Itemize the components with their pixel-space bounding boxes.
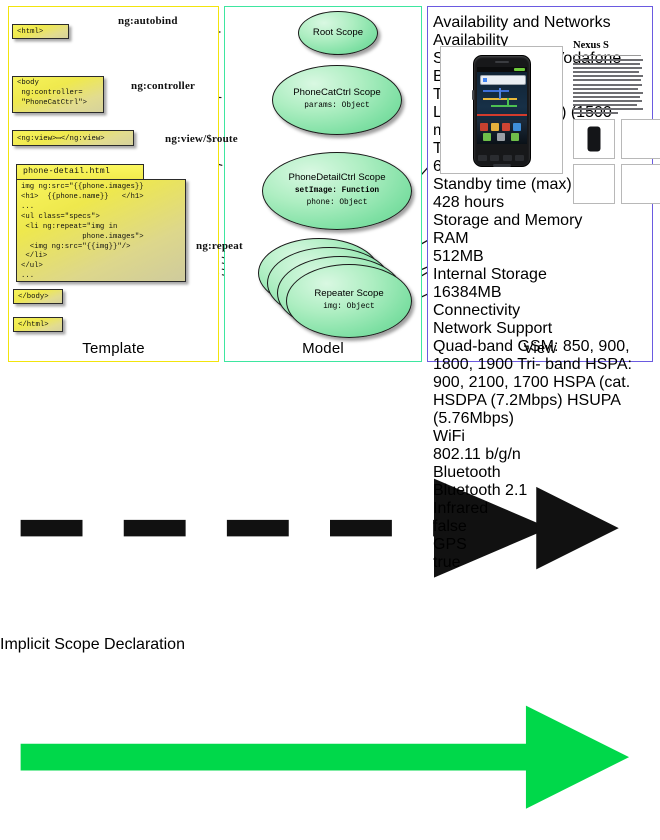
spec-row-label: Internal Storage — [433, 266, 647, 284]
phone-screen — [477, 72, 527, 144]
spec-row-value: 16384MB — [433, 284, 647, 302]
note-code: img ng:src="{{phone.images}} <h1> {{phon… — [16, 179, 186, 282]
edge-label-ng-view-route: ng:view/$route — [165, 133, 238, 145]
spec-column-storage: Storage and Memory RAM 512MB Internal St… — [433, 212, 647, 302]
scope-repeater-prop-img: img: Object — [323, 303, 374, 313]
panel-title-template: Template — [8, 340, 219, 357]
scope-phonedetailctrl-label: PhoneDetailCtrl Scope — [288, 173, 385, 184]
scope-phonecatctrl-label: PhoneCatCtrl Scope — [293, 88, 380, 99]
title-divider — [573, 55, 641, 56]
code-box-body-open: <body ng:controller= "PhoneCatCtrl"> — [12, 76, 104, 113]
phone-search-widget — [480, 75, 526, 85]
spec-row-value: 802.11 b/g/n — [433, 446, 647, 464]
legend-item-scope-inheritance: Scope Inheritance — [0, 654, 660, 840]
phone-nav-bar — [477, 155, 527, 163]
code-box-html-open: <html> — [12, 24, 69, 39]
scope-repeater-front: Repeater Scope img: Object — [286, 264, 412, 338]
view-rendered-page: Nexus S Availability and Networks — [433, 14, 647, 336]
phone-app-tray — [477, 120, 527, 144]
spec-row-label: Infrared — [433, 500, 647, 518]
spec-row-value: true — [433, 554, 647, 572]
scope-phonedetailctrl-prop-setimage: setImage: Function — [295, 187, 379, 197]
spec-column-header: Availability and Networks — [433, 14, 647, 32]
edge-label-ng-autobind: ng:autobind — [118, 15, 178, 27]
phone-hero-image-frame — [440, 46, 563, 174]
phone-front-thumbnail[interactable] — [573, 119, 615, 159]
edge-label-ng-repeat: ng:repeat — [196, 240, 243, 252]
product-title: Nexus S — [573, 40, 609, 51]
legend-label: Implicit Scope Declaration — [0, 636, 660, 654]
spec-row-label: WiFi — [433, 428, 647, 446]
scope-repeater-label: Repeater Scope — [314, 289, 383, 300]
scope-phonedetailctrl-prop-phone: phone: Object — [307, 199, 368, 209]
phone-hero-image — [473, 55, 531, 167]
scope-phonecatctrl-prop-params: params: Object — [304, 102, 370, 112]
spec-row-value: false — [433, 518, 647, 536]
code-box-ng-view: <ng:view>▭</ng:view> — [12, 130, 134, 146]
scope-root: Root Scope — [298, 11, 378, 55]
product-description — [573, 59, 643, 111]
code-box-html-close: </html> — [13, 317, 63, 332]
scope-repeater-stack: Repeater Scope img: Object — [258, 238, 410, 338]
spec-row-value: Bluetooth 2.1 — [433, 482, 647, 500]
scope-phonecatctrl: PhoneCatCtrl Scope params: Object — [272, 65, 402, 135]
edge-label-ng-controller: ng:controller — [131, 80, 195, 92]
spec-row-value: 512MB — [433, 248, 647, 266]
spec-row-label: Bluetooth — [433, 464, 647, 482]
code-box-body-close: </body> — [13, 289, 63, 304]
phone-earpiece — [495, 61, 509, 63]
scope-phonedetailctrl: PhoneDetailCtrl Scope setImage: Function… — [262, 152, 412, 230]
spec-column-header: Storage and Memory — [433, 212, 647, 230]
phone-side-thumbnail[interactable] — [573, 164, 615, 204]
phone-side-button — [472, 90, 474, 100]
phone-angled-thumbnail[interactable] — [621, 164, 660, 204]
phone-back-thumbnail[interactable] — [621, 119, 660, 159]
note-phone-detail-html: phone-detail.html img ng:src="{{phone.im… — [16, 164, 186, 281]
diagram-canvas: <html> <body ng:controller= "PhoneCatCtr… — [0, 0, 660, 420]
spec-column-header: Connectivity — [433, 302, 647, 320]
spec-row-label: RAM — [433, 230, 647, 248]
note-filename: phone-detail.html — [16, 164, 144, 179]
green-arrow-icon — [0, 654, 660, 840]
panel-title-model: Model — [224, 340, 422, 357]
spec-row-label: GPS — [433, 536, 647, 554]
spec-row-label: Network Support — [433, 320, 647, 338]
panel-title-view: View — [427, 340, 653, 357]
scope-root-label: Root Scope — [313, 28, 363, 39]
